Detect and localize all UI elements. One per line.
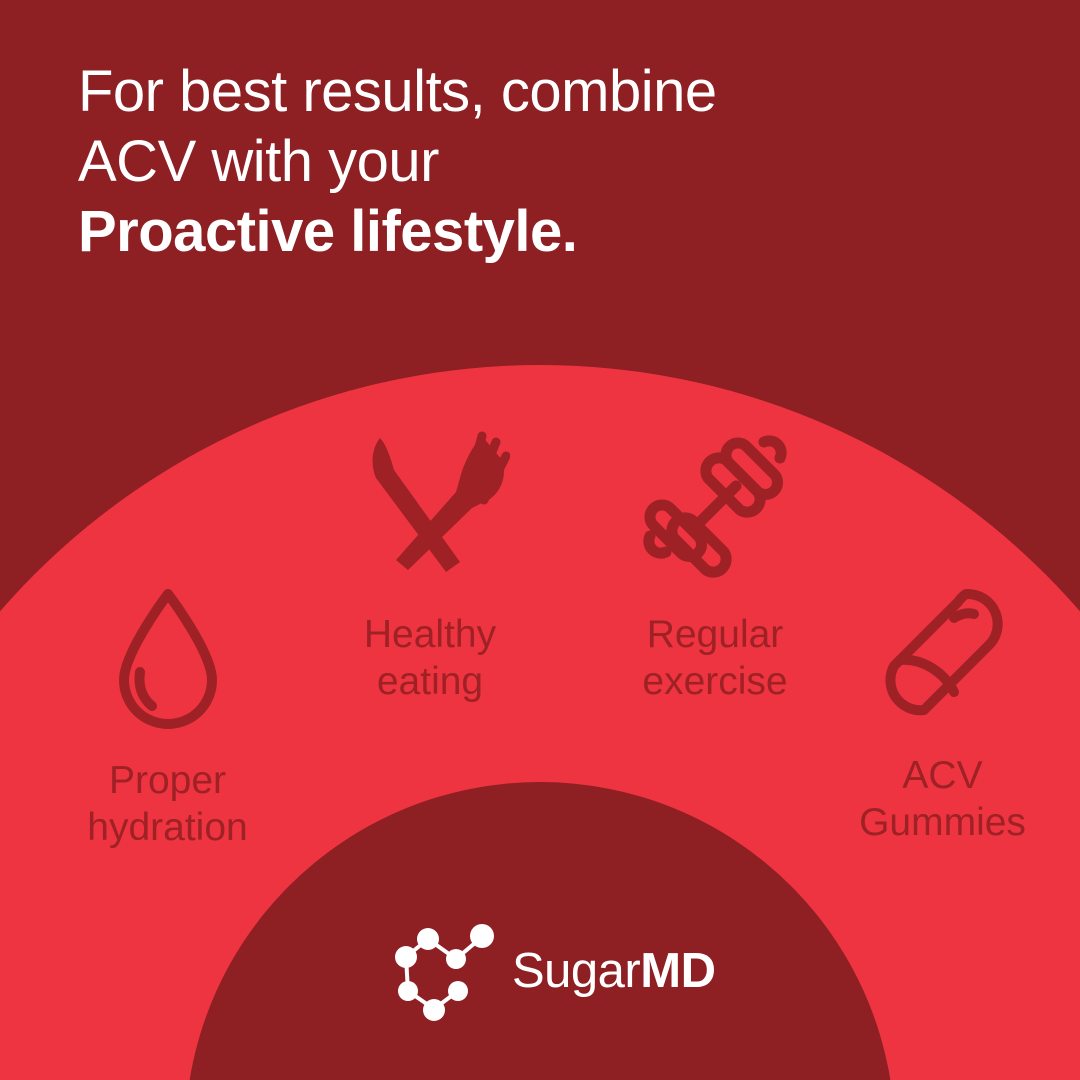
logo-word-sugar: Sugar bbox=[512, 944, 640, 998]
sugarmd-wordmark: SugarMD bbox=[512, 947, 715, 996]
poster-canvas: For best results, combine ACV with your … bbox=[0, 0, 1080, 1080]
headline-line-3: Proactive lifestyle. bbox=[78, 197, 978, 267]
molecule-hexagon-icon bbox=[390, 915, 498, 1028]
water-drop-icon bbox=[35, 580, 300, 735]
feature-item-eating: Healthy eating bbox=[280, 430, 580, 705]
feature-item-hydration: Proper hydration bbox=[35, 580, 300, 851]
sugarmd-logo: SugarMD bbox=[390, 915, 715, 1028]
headline: For best results, combine ACV with your … bbox=[78, 57, 978, 267]
feature-label-hydration: Proper hydration bbox=[35, 757, 300, 851]
feature-label-eating: Healthy eating bbox=[280, 611, 580, 705]
logo-word-md: MD bbox=[640, 944, 715, 998]
feature-item-gummies: ACV Gummies bbox=[810, 580, 1075, 846]
fork-and-knife-icon bbox=[280, 430, 580, 585]
headline-line-2: ACV with your bbox=[78, 127, 978, 197]
dumbbell-icon bbox=[565, 430, 865, 585]
headline-line-1: For best results, combine bbox=[78, 57, 978, 127]
capsule-pill-icon bbox=[810, 580, 1075, 730]
feature-label-gummies: ACV Gummies bbox=[810, 752, 1075, 846]
